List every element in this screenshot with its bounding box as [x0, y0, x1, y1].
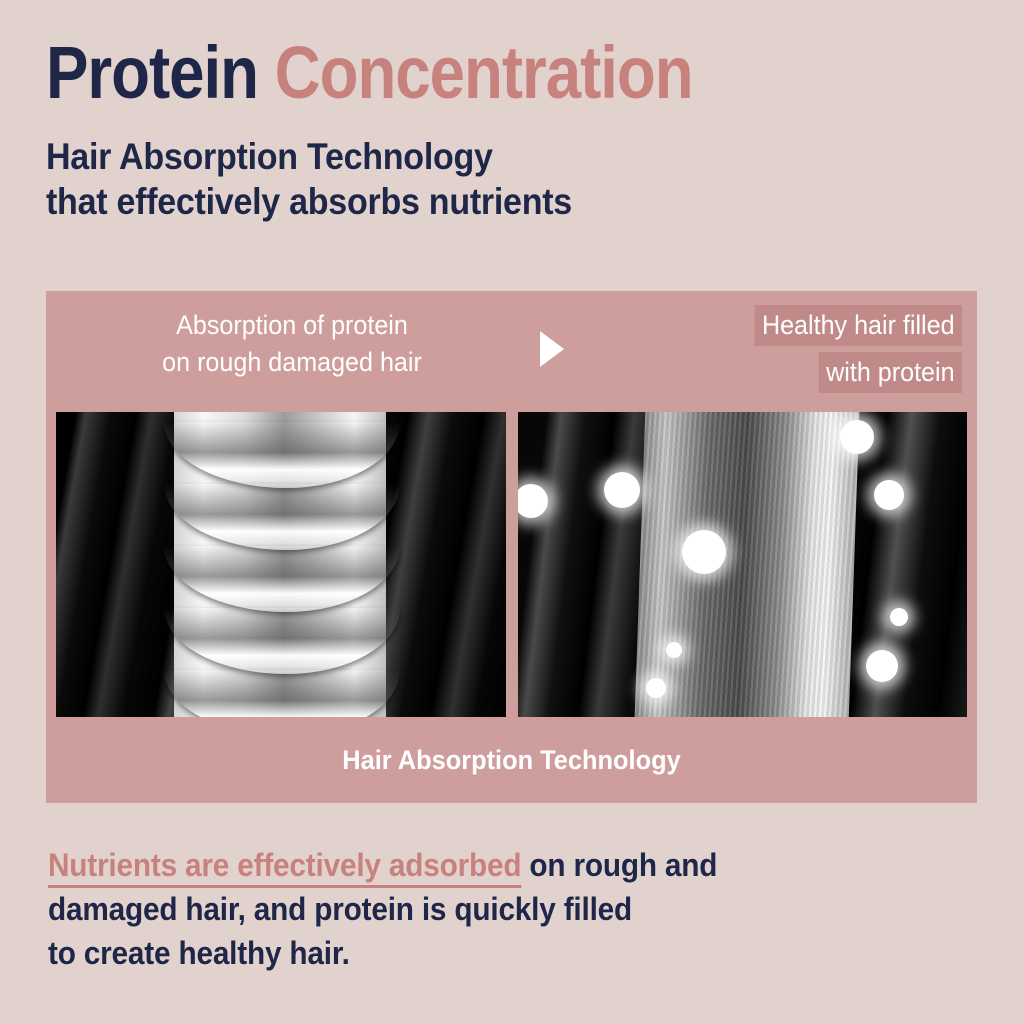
- micrograph-pair: [56, 412, 967, 717]
- subtitle-line-1: Hair Absorption Technology: [46, 134, 572, 179]
- protein-particle: [518, 484, 548, 518]
- subtitle-line-2: that effectively absorbs nutrients: [46, 179, 572, 224]
- comparison-panel-header: Absorption of protein on rough damaged h…: [46, 291, 977, 412]
- protein-particle: [890, 608, 908, 626]
- label-damaged-hair-line-1: Absorption of protein: [97, 307, 488, 344]
- body-paragraph: Nutrients are effectively adsorbed on ro…: [48, 843, 820, 975]
- protein-particle: [682, 530, 726, 574]
- label-healthy-hair-line-2: with protein: [819, 352, 962, 393]
- healthy-hair-shaft: [634, 412, 859, 717]
- comparison-panel: Absorption of protein on rough damaged h…: [46, 291, 977, 803]
- body-line-1-rest: on rough and: [521, 847, 717, 883]
- protein-particle: [666, 642, 682, 658]
- play-triangle-right-icon: [540, 331, 564, 367]
- label-damaged-hair: Absorption of protein on rough damaged h…: [97, 307, 488, 381]
- protein-particle: [874, 480, 904, 510]
- protein-particle: [840, 420, 874, 454]
- cuticle-scale: [164, 422, 400, 488]
- label-healthy-hair-line-1: Healthy hair filled: [755, 305, 962, 346]
- body-line-2: damaged hair, and protein is quickly fil…: [48, 891, 632, 927]
- body-line-3: to create healthy hair.: [48, 935, 350, 971]
- page-title-word-protein: Protein: [46, 31, 258, 114]
- cuticle-scale: [164, 670, 400, 717]
- protein-particle: [646, 678, 666, 698]
- protein-particle: [866, 650, 898, 682]
- micrograph-healthy-hair: [518, 412, 968, 717]
- protein-particle: [604, 472, 640, 508]
- damaged-hair-shaft: [174, 412, 386, 717]
- label-damaged-hair-line-2: on rough damaged hair: [97, 344, 488, 381]
- page-title: Protein Concentration: [46, 34, 693, 112]
- cuticle-scale: [164, 608, 400, 674]
- body-accent-phrase: Nutrients are effectively adsorbed: [48, 847, 521, 888]
- subtitle: Hair Absorption Technology that effectiv…: [46, 134, 572, 224]
- page-title-word-concentration: Concentration: [275, 31, 693, 114]
- label-healthy-hair: Healthy hair filled with protein: [594, 305, 962, 399]
- cuticle-scale: [164, 546, 400, 612]
- panel-caption: Hair Absorption Technology: [74, 717, 949, 803]
- cuticle-scale: [164, 484, 400, 550]
- micrograph-damaged-hair: [56, 412, 506, 717]
